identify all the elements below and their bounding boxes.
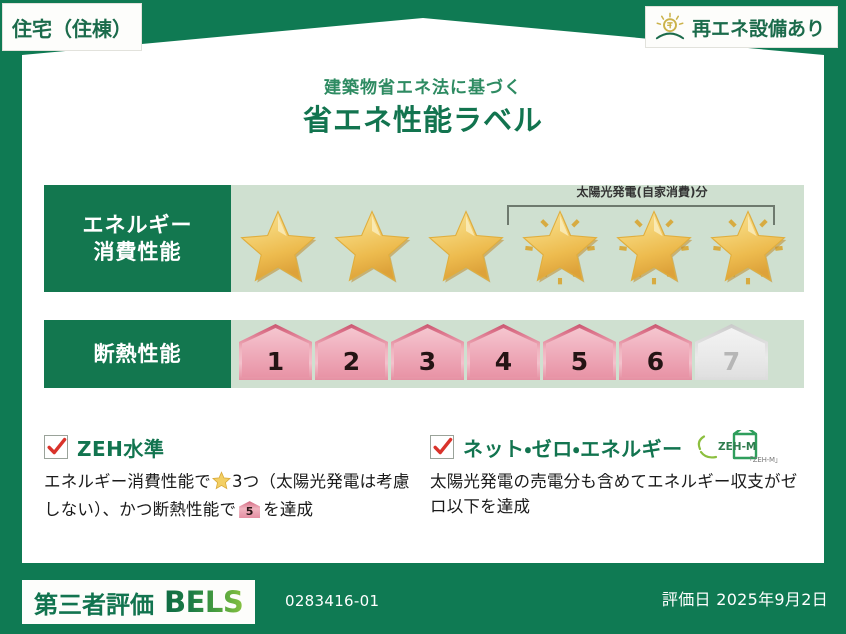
inline-insulation-badge: 5	[239, 501, 260, 518]
insulation-level-number: 3	[419, 349, 436, 380]
insulation-level-number: 2	[343, 349, 360, 380]
star-rating-group	[231, 206, 804, 288]
energy-label-line2: 消費性能	[94, 239, 182, 265]
zeh-body-pre: エネルギー消費性能で	[44, 472, 211, 491]
insulation-level-5: 5	[543, 324, 616, 380]
net-zero-energy-header: ネット・ゼロ・エネルギー ZEH-M 「ZEH-M」	[430, 432, 808, 462]
insulation-level-group: 1234567	[239, 324, 768, 380]
star-icon	[231, 207, 325, 287]
net-zero-energy-body: 太陽光発電の売電分も含めてエネルギー収支がゼロ以下を達成	[430, 469, 808, 519]
title-main: 省エネ性能ラベル	[0, 104, 846, 137]
svg-text:ZEH-M: ZEH-M	[718, 441, 756, 453]
solar-star-icon	[701, 207, 795, 287]
bels-logo-text: BELS	[164, 585, 243, 619]
solar-star-icon	[607, 207, 701, 287]
insulation-level-7: 7	[695, 324, 768, 380]
energy-rating-area: 太陽光発電(自家消費)分	[231, 185, 804, 292]
bels-certificate-number: 0283416-01	[285, 592, 379, 610]
insulation-level-number: 4	[495, 349, 512, 380]
energy-performance-label: エネルギー 消費性能	[44, 185, 231, 292]
zeh-standard-header: ZEH水準	[44, 432, 422, 462]
inline-badge-number: 5	[239, 501, 260, 518]
insulation-level-6: 6	[619, 324, 692, 380]
net-zero-energy-checkbox[interactable]	[430, 435, 454, 459]
building-type-label: 住宅（住棟）	[12, 13, 132, 42]
solar-star-icon	[513, 207, 607, 287]
star-icon	[325, 207, 419, 287]
zeh-m-logo-caption: 「ZEH-M」	[746, 455, 782, 465]
evaluation-date-value: 2025年9月2日	[716, 590, 828, 609]
star-icon	[419, 207, 513, 287]
energy-performance-row: エネルギー 消費性能 太陽光発電(自家消費)分	[44, 185, 804, 292]
insulation-level-1: 1	[239, 324, 312, 380]
zeh-standard-title: ZEH水準	[77, 433, 164, 462]
evaluation-date-label: 評価日	[662, 590, 711, 609]
zeh-body-post: を達成	[263, 500, 313, 519]
solar-portion-note: 太陽光発電(自家消費)分	[477, 183, 807, 200]
label-title-block: 建築物省エネ法に基づく 省エネ性能ラベル	[0, 78, 846, 138]
insulation-performance-label: 断熱性能	[44, 320, 231, 388]
insulation-level-number: 7	[723, 349, 740, 380]
inline-star-icon	[212, 471, 231, 497]
net-zero-energy-section: ネット・ゼロ・エネルギー ZEH-M 「ZEH-M」 太陽光発電の売電分も含めて…	[430, 432, 808, 519]
building-type-badge: 住宅（住棟）	[2, 3, 142, 51]
bels-footer-badge: 第三者評価 BELS	[22, 580, 255, 624]
insulation-rating-area: 1234567	[231, 320, 804, 388]
third-party-evaluation-label: 第三者評価	[34, 585, 154, 620]
sun-renewable-icon	[654, 12, 686, 42]
title-subtitle: 建築物省エネ法に基づく	[0, 78, 846, 98]
insulation-level-3: 3	[391, 324, 464, 380]
energy-label-line1: エネルギー	[83, 212, 193, 238]
check-icon	[46, 436, 68, 458]
insulation-level-number: 1	[267, 349, 284, 380]
insulation-level-number: 6	[647, 349, 664, 380]
net-zero-energy-title: ネット・ゼロ・エネルギー	[463, 433, 683, 462]
bels-energy-label: 住宅（住棟） 再エネ設備あり 建築物省エネ法に基づく 省エネ性能ラベル	[0, 0, 846, 634]
check-icon	[432, 436, 454, 458]
zeh-standard-section: ZEH水準 エネルギー消費性能で 3つ（太陽光発電は考慮しない）、かつ断熱性能で…	[44, 432, 422, 522]
zeh-standard-body: エネルギー消費性能で 3つ（太陽光発電は考慮しない）、かつ断熱性能で 5 を達成	[44, 469, 422, 522]
evaluation-date: 評価日 2025年9月2日	[662, 586, 828, 610]
insulation-label-text: 断熱性能	[94, 341, 182, 367]
insulation-performance-row: 断熱性能 1234567	[44, 320, 804, 388]
insulation-level-2: 2	[315, 324, 388, 380]
renewable-equipment-badge: 再エネ設備あり	[645, 6, 838, 48]
insulation-level-number: 5	[571, 349, 588, 380]
renewable-equipment-label: 再エネ設備あり	[692, 14, 825, 41]
zeh-m-logo: ZEH-M 「ZEH-M」	[694, 430, 782, 464]
zeh-standard-checkbox[interactable]	[44, 435, 68, 459]
insulation-level-4: 4	[467, 324, 540, 380]
